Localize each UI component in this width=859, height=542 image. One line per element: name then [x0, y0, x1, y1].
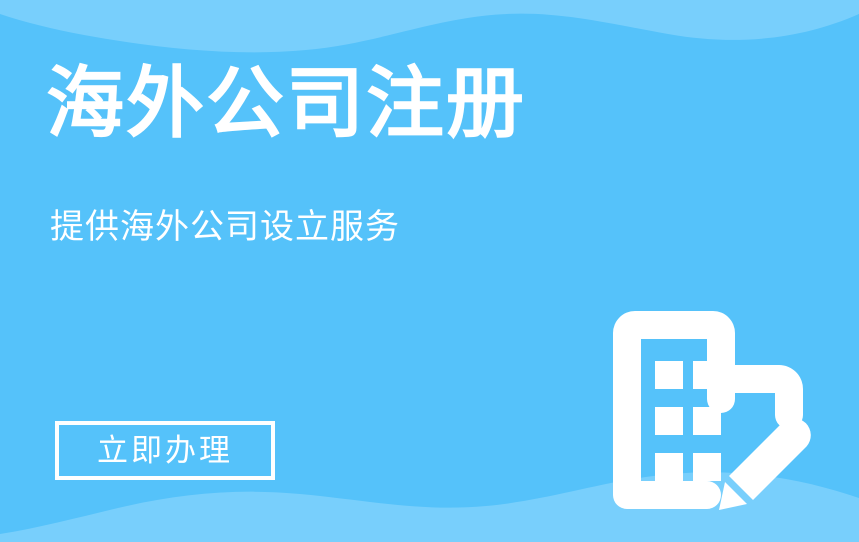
promo-banner: 海外公司注册 提供海外公司设立服务 立即办理: [0, 0, 859, 542]
apply-now-button-label: 立即办理: [97, 435, 233, 466]
banner-content: 海外公司注册 提供海外公司设立服务 立即办理: [0, 0, 859, 542]
building-edit-icon: [605, 303, 817, 515]
page-title: 海外公司注册: [46, 64, 526, 142]
window-r3c1: [655, 453, 683, 481]
window-r1c2: [693, 361, 721, 389]
window-r2c2: [693, 407, 721, 435]
pencil-body-shape: [729, 418, 811, 500]
window-r2c1: [655, 407, 683, 435]
window-r3c2: [693, 453, 721, 481]
apply-now-button[interactable]: 立即办理: [55, 421, 275, 480]
window-r1c1: [655, 361, 683, 389]
page-subtitle: 提供海外公司设立服务: [50, 207, 400, 248]
